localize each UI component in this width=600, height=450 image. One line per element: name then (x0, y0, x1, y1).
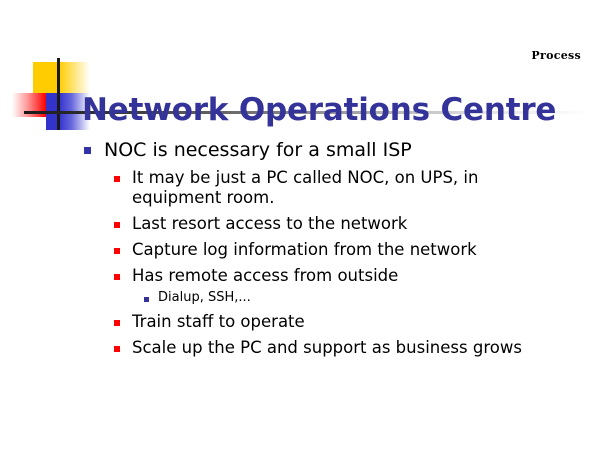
presentation-slide: Process Network Operations Centre NOC is… (0, 0, 600, 450)
bullet-item-level2: Last resort access to the network (0, 214, 600, 234)
decorative-block-art (12, 58, 90, 130)
bullet-item-level2: Scale up the PC and support as business … (0, 338, 600, 358)
bullet-text: NOC is necessary for a small ISP (104, 138, 600, 162)
bullet-square-icon (114, 222, 120, 228)
bullet-text: It may be just a PC called NOC, on UPS, … (132, 168, 550, 208)
bullet-item-level2: Has remote access from outside (0, 266, 600, 286)
bullet-square-icon (144, 297, 149, 302)
bullet-item-level3: Dialup, SSH,... (0, 290, 600, 306)
bullet-text: Train staff to operate (132, 312, 550, 332)
bullet-square-icon (114, 176, 120, 182)
bullet-text: Dialup, SSH,... (158, 290, 600, 306)
bullet-text: Has remote access from outside (132, 266, 550, 286)
bullet-text: Last resort access to the network (132, 214, 550, 234)
page-title: Network Operations Centre (82, 91, 556, 129)
slide-body: NOC is necessary for a small ISP It may … (0, 132, 600, 450)
bullet-square-icon (114, 320, 120, 326)
bullet-square-icon (114, 274, 120, 280)
art-vertical-line-icon (57, 58, 60, 130)
bullet-square-icon (114, 346, 120, 352)
bullet-item-level1: NOC is necessary for a small ISP (0, 138, 600, 162)
art-yellow-gradient-icon (59, 62, 90, 93)
bullet-text: Capture log information from the network (132, 240, 550, 260)
slide-header: Process Network Operations Centre (0, 0, 600, 132)
art-yellow-square-icon (33, 62, 59, 93)
bullet-item-level2: It may be just a PC called NOC, on UPS, … (0, 168, 600, 208)
bullet-square-icon (84, 147, 91, 154)
bullet-item-level2: Train staff to operate (0, 312, 600, 332)
slide-category-label: Process (531, 50, 581, 62)
bullet-square-icon (114, 248, 120, 254)
bullet-text: Scale up the PC and support as business … (132, 338, 550, 358)
bullet-item-level2: Capture log information from the network (0, 240, 600, 260)
